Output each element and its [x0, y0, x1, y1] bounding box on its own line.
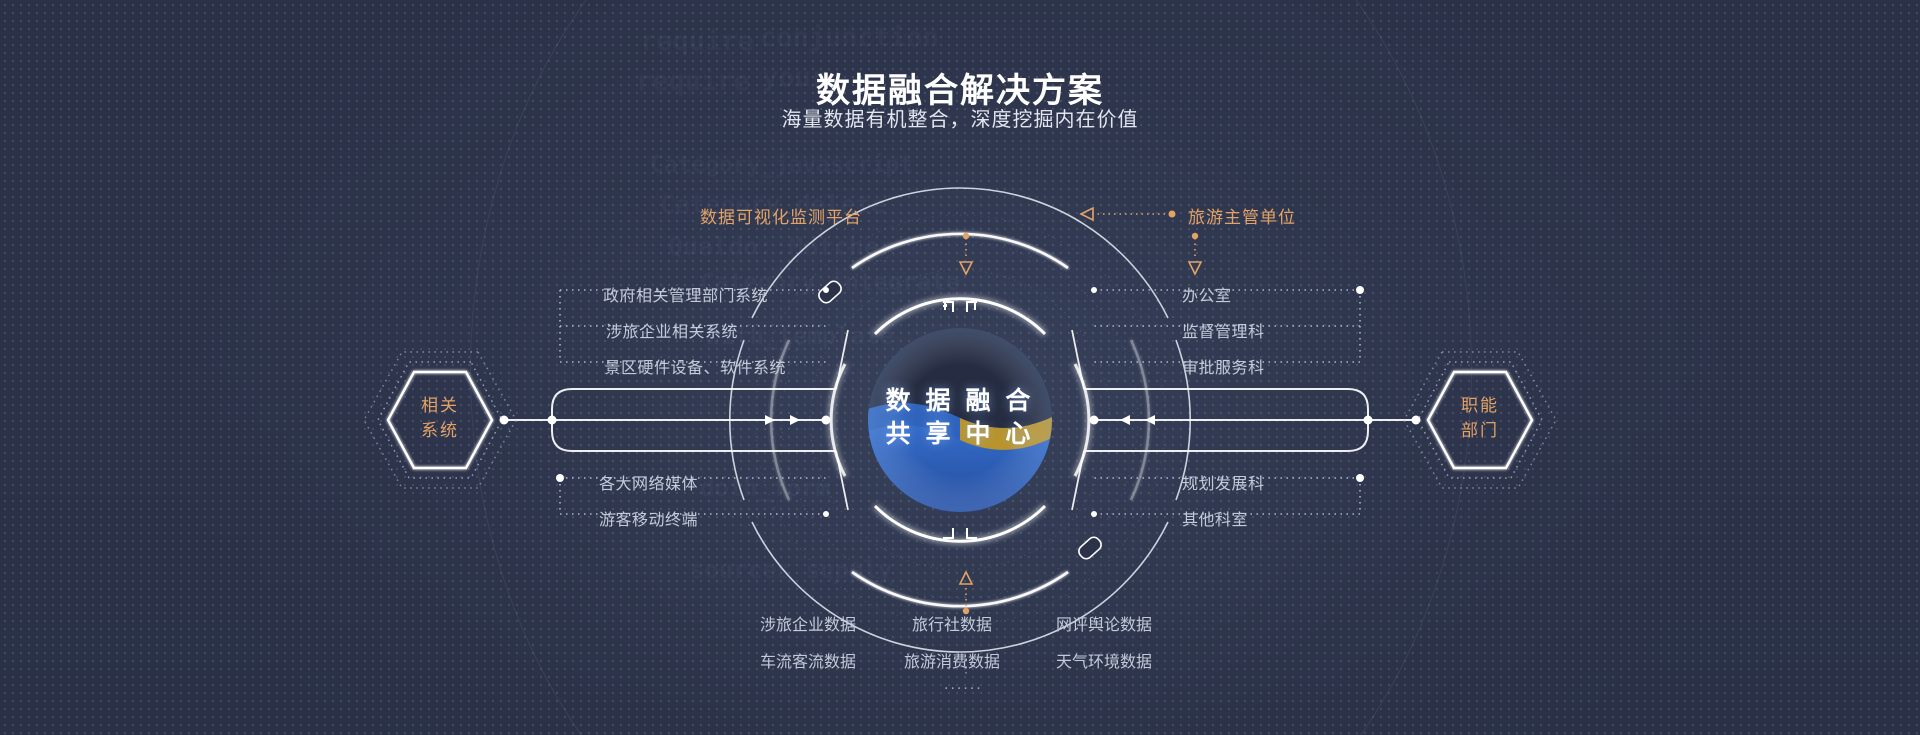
right-arrow-head-1: [1120, 415, 1130, 425]
source-label-scenic-hardware[interactable]: 景区硬件设备、软件系统: [0, 354, 786, 378]
dept-label-supervision[interactable]: 监督管理科: [1182, 318, 1265, 342]
infographic-canvas: require conjunction require your Categor…: [0, 0, 1920, 735]
decorative-rings: [755, 215, 1165, 625]
source-label-gov-system[interactable]: 政府相关管理部门系统: [0, 282, 768, 306]
inner-bright-ring: [831, 299, 1089, 542]
dept-label-planning-development[interactable]: 规划发展科: [1182, 470, 1265, 494]
water-blue-wave: [860, 403, 1062, 520]
ring-bracket-marks: [942, 300, 977, 538]
water-gold-wave: [960, 412, 1062, 450]
left-arrow-head-2: [765, 415, 775, 425]
center-line-1: 数 据 融 合: [840, 385, 1080, 418]
ghost-text-0: require: [640, 26, 754, 57]
source-label-network-media[interactable]: 各大网络媒体: [0, 470, 698, 494]
left-connector-lines: [504, 389, 836, 451]
left-hub-label[interactable]: 相关 系统: [390, 393, 490, 443]
bottom-data-ellipsis: ......: [944, 676, 983, 694]
bureau-down-markers: [1189, 233, 1201, 274]
bottom-data-r1c2[interactable]: 旅行社数据: [912, 611, 992, 635]
bottom-data-r1c1[interactable]: 涉旅企业数据: [760, 611, 856, 635]
left-hub-line2: 系统: [421, 421, 459, 440]
dept-label-other-offices[interactable]: 其他科室: [1182, 506, 1248, 530]
dept-label-office[interactable]: 办公室: [1182, 282, 1232, 306]
label-tourism-authority[interactable]: 旅游主管单位: [1188, 203, 1296, 228]
inner-ring-brackets: [944, 302, 975, 310]
bottom-data-r2c2[interactable]: 旅游消费数据: [904, 648, 1000, 672]
ghost-text-1: conjunction: [760, 22, 939, 53]
mid-arc-ring: [771, 234, 1149, 606]
bottom-up-markers: [960, 572, 972, 614]
page-subtitle: 海量数据有机整合，深度挖掘内在价值: [0, 103, 1920, 132]
right-hub-line1: 职能: [1461, 396, 1499, 415]
right-hub-label[interactable]: 职能 部门: [1430, 393, 1530, 443]
bottom-data-r2c1[interactable]: 车流客流数据: [760, 648, 856, 672]
left-feeder-lines: [836, 330, 848, 510]
outer-arc-ring: [730, 188, 1190, 652]
ghost-text-9: doth_form: [700, 474, 830, 502]
right-feeder-lines: [1072, 330, 1084, 510]
dept-label-approval-service[interactable]: 审批服务科: [1182, 354, 1265, 378]
right-arrow-head-2: [1145, 415, 1155, 425]
left-arrow-head-1: [790, 415, 800, 425]
platform-down-markers: [960, 233, 972, 274]
center-node-label: 数 据 融 合 共 享 中 心: [840, 385, 1080, 451]
ghost-text-6: Qualdo::Matcher: [668, 232, 894, 261]
right-hub-line2: 部门: [1461, 421, 1499, 440]
source-label-mobile-terminal[interactable]: 游客移动终端: [0, 506, 698, 530]
right-connector-nodes: [1090, 415, 1421, 425]
label-visualization-platform[interactable]: 数据可视化监测平台: [700, 203, 862, 228]
ring-capsule-markers: [816, 279, 1103, 561]
water-blue-crest: [860, 403, 960, 440]
ghost-text-10: sources supply: [690, 556, 892, 584]
bottom-data-r1c3[interactable]: 网评舆论数据: [1056, 611, 1152, 635]
bottom-data-r2c3[interactable]: 天气环境数据: [1056, 648, 1152, 672]
center-liquid-sphere: [860, 328, 1062, 520]
left-connector-nodes: [500, 415, 831, 425]
top-flow-markers: [1081, 208, 1176, 220]
source-label-tourism-enterprise[interactable]: 涉旅企业相关系统: [0, 318, 738, 342]
ghost-text-4: Category_javascript: [650, 152, 913, 178]
center-line-2: 共 享 中 心: [840, 418, 1080, 451]
left-hub-line1: 相关: [421, 396, 459, 415]
right-connector-lines: [1084, 389, 1416, 451]
